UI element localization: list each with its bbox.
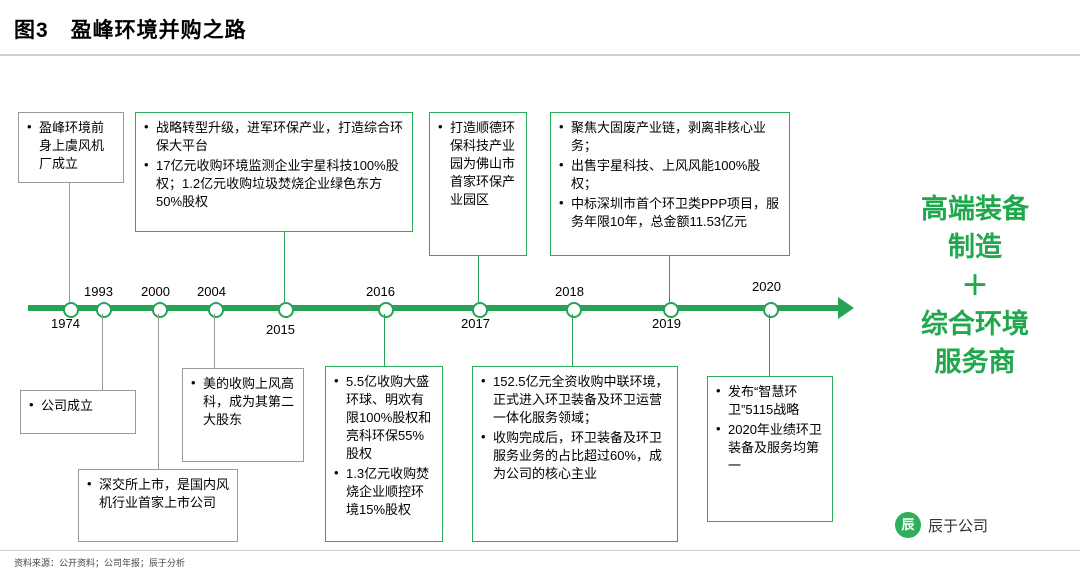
event-box-2019[interactable]: 聚焦大固废产业链，剥离非核心业务； 出售宇星科技、上风风能100%股权； 中标深…	[550, 112, 790, 256]
event-box-2016[interactable]: 5.5亿收购大盛环球、明欢有限100%股权和亮科环保55%股权 1.3亿元收购焚…	[325, 366, 443, 542]
event-item: 深交所上市，是国内风机行业首家上市公司	[87, 476, 229, 512]
year-label-2020: 2020	[752, 279, 781, 294]
timeline-node-2020[interactable]	[763, 302, 779, 318]
event-item: 5.5亿收购大盛环球、明欢有限100%股权和亮科环保55%股权	[334, 373, 434, 463]
source-note: 资料来源：公开资料；公司年报；辰于分析	[14, 556, 185, 569]
connector-2004	[214, 314, 215, 368]
watermark: 辰 辰于公司	[895, 512, 988, 538]
event-item: 发布“智慧环卫”5115战略	[716, 383, 824, 419]
connector-2016	[384, 314, 385, 366]
year-label-2000: 2000	[141, 284, 170, 299]
year-label-2019: 2019	[652, 316, 681, 331]
event-box-2017[interactable]: 打造顺德环保科技产业园为佛山市首家环保产业园区	[429, 112, 527, 256]
event-item: 美的收购上风高科，成为其第二大股东	[191, 375, 295, 429]
figure-number: 图3	[14, 19, 49, 42]
year-label-2017: 2017	[461, 316, 490, 331]
timeline-node-2000[interactable]	[152, 302, 168, 318]
event-box-2000[interactable]: 深交所上市，是国内风机行业首家上市公司	[78, 469, 238, 542]
timeline-node-2004[interactable]	[208, 302, 224, 318]
timeline-node-2015[interactable]	[278, 302, 294, 318]
event-box-2018[interactable]: 152.5亿元全资收购中联环境，正式进入环卫装备及环卫运营一体化服务领域； 收购…	[472, 366, 678, 542]
timeline-node-2018[interactable]	[566, 302, 582, 318]
event-item: 17亿元收购环境监测企业宇星科技100%股权；1.2亿元收购垃圾焚烧企业绿色东方…	[144, 157, 404, 211]
event-item: 聚焦大固废产业链，剥离非核心业务；	[559, 119, 781, 155]
connector-2018	[572, 314, 573, 366]
event-item: 盈峰环境前身上虞风机厂成立	[27, 119, 115, 173]
slogan-line-2: 制造	[880, 228, 1070, 266]
timeline-arrow-icon	[838, 297, 854, 319]
event-item: 中标深圳市首个环卫类PPP项目，服务年限10年，总金额11.53亿元	[559, 195, 781, 231]
footer-divider	[0, 550, 1080, 551]
timeline-axis	[28, 305, 840, 311]
event-box-2004[interactable]: 美的收购上风高科，成为其第二大股东	[182, 368, 304, 462]
event-item: 公司成立	[29, 397, 127, 415]
event-box-1993[interactable]: 公司成立	[20, 390, 136, 434]
timeline-node-2016[interactable]	[378, 302, 394, 318]
connector-2019	[669, 256, 670, 302]
year-label-2004: 2004	[197, 284, 226, 299]
connector-2015	[284, 232, 285, 302]
slogan-line-1: 高端装备	[880, 190, 1070, 228]
event-box-2015[interactable]: 战略转型升级，进军环保产业，打造综合环保大平台 17亿元收购环境监测企业宇星科技…	[135, 112, 413, 232]
slogan-plus: ＋	[880, 267, 1070, 305]
figure-title-text: 盈峰环境并购之路	[71, 19, 247, 42]
event-box-2020[interactable]: 发布“智慧环卫”5115战略 2020年业绩环卫装备及服务均第一	[707, 376, 833, 522]
event-item: 打造顺德环保科技产业园为佛山市首家环保产业园区	[438, 119, 518, 209]
event-item: 152.5亿元全资收购中联环境，正式进入环卫装备及环卫运营一体化服务领域；	[481, 373, 669, 427]
watermark-badge-icon: 辰	[895, 512, 921, 538]
top-edge	[0, 0, 1080, 4]
event-item: 2020年业绩环卫装备及服务均第一	[716, 421, 824, 475]
year-label-1993: 1993	[84, 284, 113, 299]
slogan-block: 高端装备 制造 ＋ 综合环境 服务商	[880, 190, 1070, 382]
watermark-text: 辰于公司	[928, 515, 988, 536]
year-label-1974: 1974	[51, 316, 80, 331]
event-item: 战略转型升级，进军环保产业，打造综合环保大平台	[144, 119, 404, 155]
timeline-node-1993[interactable]	[96, 302, 112, 318]
year-label-2018: 2018	[555, 284, 584, 299]
year-label-2016: 2016	[366, 284, 395, 299]
connector-1974	[69, 183, 70, 302]
slogan-line-4: 服务商	[880, 343, 1070, 381]
event-item: 出售宇星科技、上风风能100%股权；	[559, 157, 781, 193]
event-item: 1.3亿元收购焚烧企业顺控环境15%股权	[334, 465, 434, 519]
connector-2020	[769, 314, 770, 376]
connector-2000	[158, 314, 159, 469]
event-box-1974[interactable]: 盈峰环境前身上虞风机厂成立	[18, 112, 124, 183]
header-divider	[0, 54, 1080, 56]
year-label-2015: 2015	[266, 322, 295, 337]
connector-1993	[102, 314, 103, 390]
connector-2017	[478, 256, 479, 302]
page-title: 图3盈峰环境并购之路	[14, 14, 247, 44]
event-item: 收购完成后，环卫装备及环卫服务业务的占比超过60%，成为公司的核心主业	[481, 429, 669, 483]
slogan-line-3: 综合环境	[880, 305, 1070, 343]
